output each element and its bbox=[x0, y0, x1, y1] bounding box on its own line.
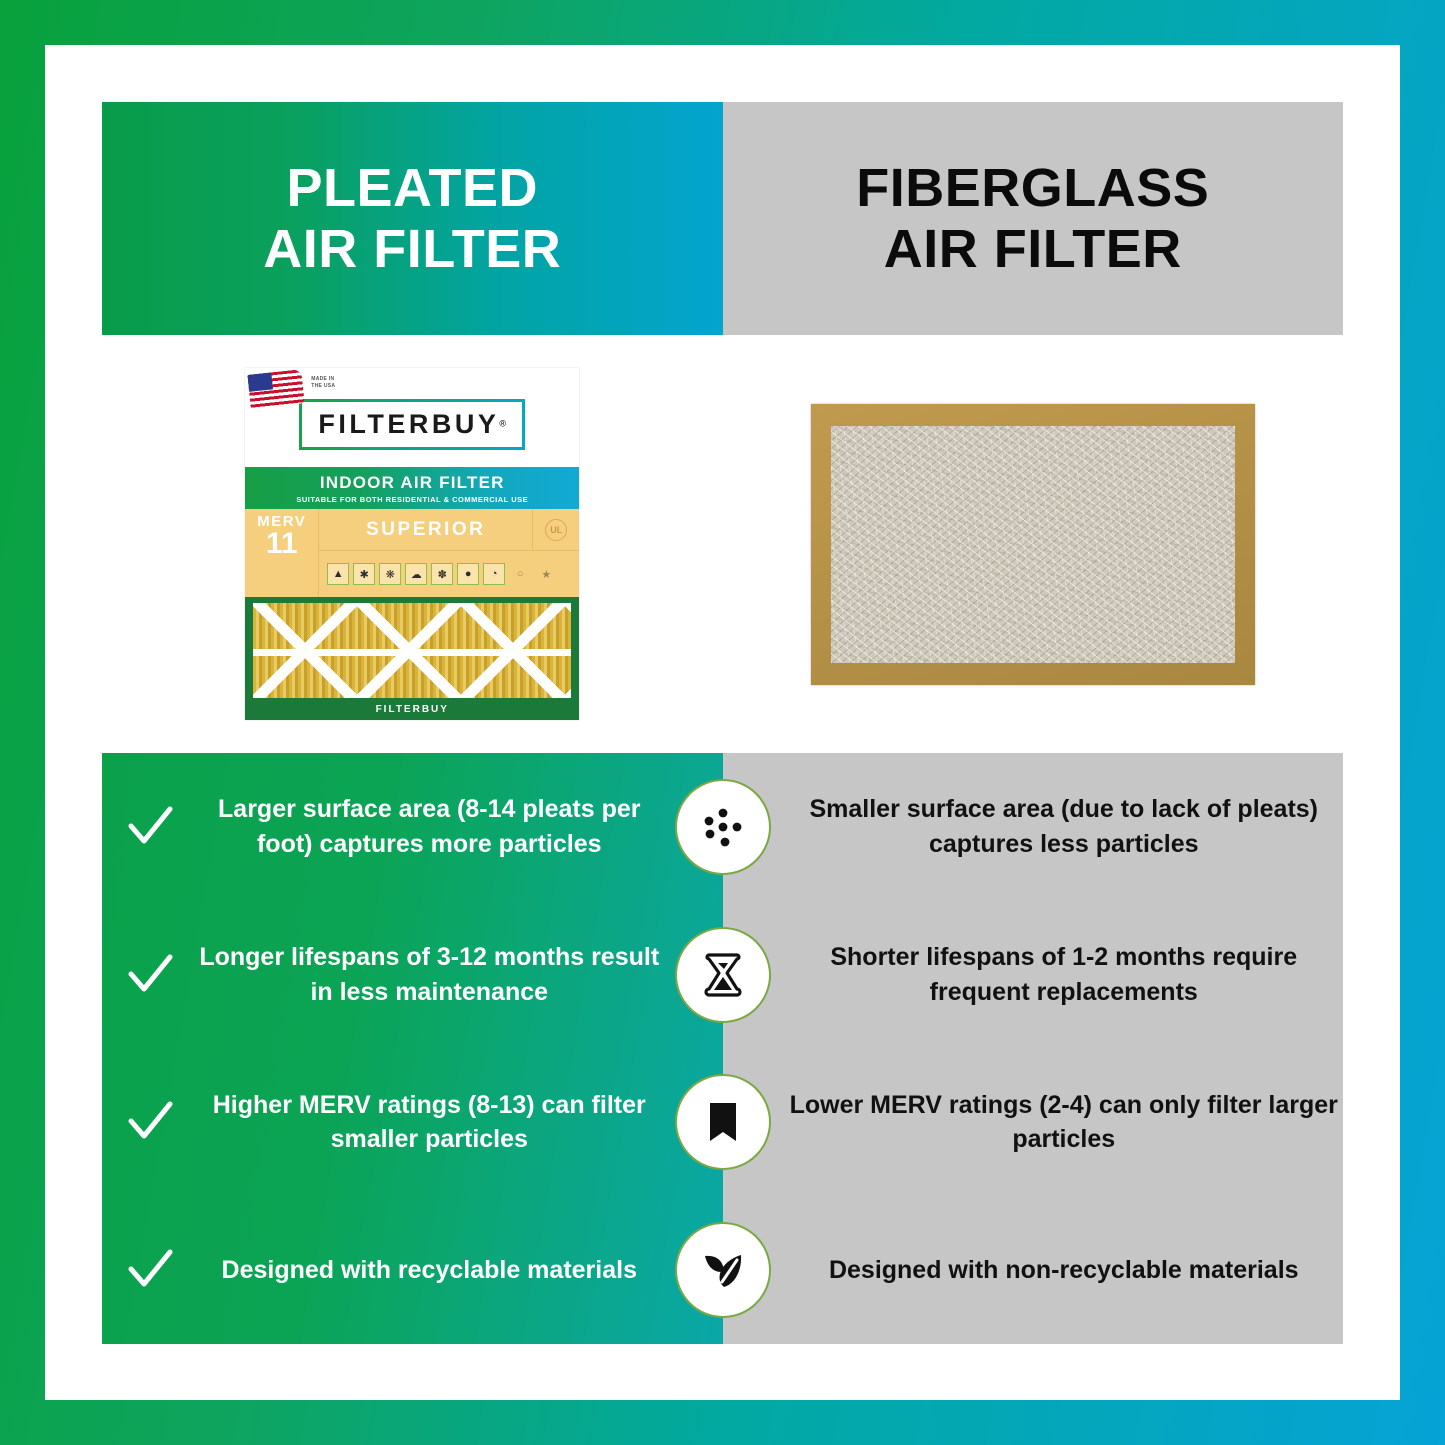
comparison-cell-left: Larger surface area (8-14 pleats per foo… bbox=[102, 792, 723, 861]
header-band: PLEATED AIR FILTER FIBERGLASS AIR FILTER bbox=[102, 102, 1343, 335]
box-banner-main: INDOOR AIR FILTER bbox=[320, 473, 505, 493]
fiberglass-product-cell bbox=[723, 335, 1344, 753]
made-in-line2: THE USA bbox=[311, 383, 335, 390]
trademark-symbol: ® bbox=[499, 419, 506, 429]
checkmark-icon bbox=[102, 1097, 198, 1147]
merv-spacer bbox=[245, 551, 319, 597]
pleated-product-cell: MADE IN THE USA FILTERBUY® INDOOR AIR FI… bbox=[102, 335, 723, 753]
header-pleated-line2: AIR FILTER bbox=[263, 219, 561, 279]
table-row: Larger surface area (8-14 pleats per foo… bbox=[102, 753, 1343, 901]
comparison-cell-right: Designed with non-recyclable materials bbox=[723, 1253, 1344, 1288]
header-pleated-line1: PLEATED bbox=[263, 158, 561, 218]
comparison-text-right: Smaller surface area (due to lack of ple… bbox=[785, 792, 1344, 861]
virus-icon-faded: ○ bbox=[509, 563, 531, 585]
leaf-icon bbox=[675, 1222, 771, 1318]
comparison-cell-left: Designed with recyclable materials bbox=[102, 1245, 723, 1295]
fiberglass-media-texture bbox=[831, 426, 1235, 663]
box-spec-row-top: MERV 11 SUPERIOR UL bbox=[245, 509, 579, 551]
box-spec-panel: MERV 11 SUPERIOR UL bbox=[245, 509, 579, 597]
box-footer-brand: FILTERBUY bbox=[376, 704, 449, 715]
comparison-cell-left: Higher MERV ratings (8-13) can filter sm… bbox=[102, 1088, 723, 1157]
ul-certification-icon: UL bbox=[545, 519, 567, 541]
hourglass-icon bbox=[675, 927, 771, 1023]
comparison-table: Larger surface area (8-14 pleats per foo… bbox=[102, 753, 1343, 1344]
insect-icon: ✱ bbox=[353, 563, 375, 585]
table-row: Designed with recyclable materials Desig… bbox=[102, 1196, 1343, 1344]
header-pleated-title: PLEATED AIR FILTER bbox=[263, 158, 561, 279]
comparison-text-left: Higher MERV ratings (8-13) can filter sm… bbox=[198, 1088, 661, 1157]
box-footer: FILTERBUY bbox=[245, 698, 579, 720]
pleated-filter-box-image: MADE IN THE USA FILTERBUY® INDOOR AIR FI… bbox=[245, 368, 579, 720]
made-in-line1: MADE IN bbox=[311, 376, 335, 383]
white-card: PLEATED AIR FILTER FIBERGLASS AIR FILTER bbox=[45, 45, 1400, 1400]
made-in-usa-label: MADE IN THE USA bbox=[311, 376, 335, 389]
box-banner: INDOOR AIR FILTER SUITABLE FOR BOTH RESI… bbox=[245, 467, 579, 509]
checkmark-icon bbox=[102, 802, 198, 852]
pleated-media-window bbox=[245, 597, 579, 698]
comparison-cell-right: Smaller surface area (due to lack of ple… bbox=[723, 792, 1344, 861]
comparison-cell-right: Shorter lifespans of 1-2 months require … bbox=[723, 940, 1344, 1009]
comparison-text-left: Longer lifespans of 3-12 months result i… bbox=[198, 940, 661, 1009]
box-banner-sub: SUITABLE FOR BOTH RESIDENTIAL & COMMERCI… bbox=[296, 495, 528, 504]
smoke-icon: ◔ bbox=[483, 563, 505, 585]
table-row: Higher MERV ratings (8-13) can filter sm… bbox=[102, 1049, 1343, 1197]
outer-gradient-frame: PLEATED AIR FILTER FIBERGLASS AIR FILTER bbox=[0, 0, 1445, 1445]
box-header: MADE IN THE USA FILTERBUY® bbox=[245, 368, 579, 467]
comparison-text-right: Lower MERV ratings (2-4) can only filter… bbox=[785, 1088, 1344, 1157]
header-pleated: PLEATED AIR FILTER bbox=[102, 102, 723, 335]
dust-icon: ▲ bbox=[327, 563, 349, 585]
infographic-content: PLEATED AIR FILTER FIBERGLASS AIR FILTER bbox=[102, 102, 1343, 1344]
pollen-icon: ☁ bbox=[405, 563, 427, 585]
comparison-text-left: Larger surface area (8-14 pleats per foo… bbox=[198, 792, 661, 861]
pleat-texture bbox=[253, 603, 571, 698]
grade-block: SUPERIOR bbox=[319, 509, 533, 551]
header-fiberglass-line1: FIBERGLASS bbox=[856, 158, 1209, 218]
brand-logo-box: FILTERBUY® bbox=[299, 399, 525, 450]
header-fiberglass-title: FIBERGLASS AIR FILTER bbox=[856, 158, 1209, 279]
mold-icon: ✽ bbox=[431, 563, 453, 585]
feature-icons-strip: ▲ ✱ ❋ ☁ ✽ ● ◔ ○ ★ bbox=[319, 551, 579, 597]
table-row: Longer lifespans of 3-12 months result i… bbox=[102, 901, 1343, 1049]
bookmark-icon bbox=[675, 1074, 771, 1170]
comparison-text-right: Shorter lifespans of 1-2 months require … bbox=[785, 940, 1344, 1009]
grade-label: SUPERIOR bbox=[366, 519, 485, 541]
comparison-cell-right: Lower MERV ratings (2-4) can only filter… bbox=[723, 1088, 1344, 1157]
merv-rating-block: MERV 11 bbox=[245, 509, 319, 551]
comparison-text-left: Designed with recyclable materials bbox=[198, 1253, 661, 1288]
header-fiberglass: FIBERGLASS AIR FILTER bbox=[723, 102, 1344, 335]
pet-dander-icon: ● bbox=[457, 563, 479, 585]
header-fiberglass-line2: AIR FILTER bbox=[856, 219, 1209, 279]
certification-block: UL bbox=[533, 509, 579, 551]
fiberglass-filter-image bbox=[811, 404, 1255, 685]
bacteria-icon: ❋ bbox=[379, 563, 401, 585]
particles-icon bbox=[675, 779, 771, 875]
comparison-cell-left: Longer lifespans of 3-12 months result i… bbox=[102, 940, 723, 1009]
allergen-icon-faded: ★ bbox=[535, 563, 557, 585]
brand-name: FILTERBUY bbox=[318, 409, 499, 439]
pleat-support-bar bbox=[253, 649, 571, 656]
product-image-band: MADE IN THE USA FILTERBUY® INDOOR AIR FI… bbox=[102, 335, 1343, 753]
checkmark-icon bbox=[102, 1245, 198, 1295]
checkmark-icon bbox=[102, 950, 198, 1000]
box-spec-row-bottom: ▲ ✱ ❋ ☁ ✽ ● ◔ ○ ★ bbox=[245, 551, 579, 597]
comparison-text-right: Designed with non-recyclable materials bbox=[785, 1253, 1344, 1288]
usa-flag-icon bbox=[248, 369, 305, 408]
